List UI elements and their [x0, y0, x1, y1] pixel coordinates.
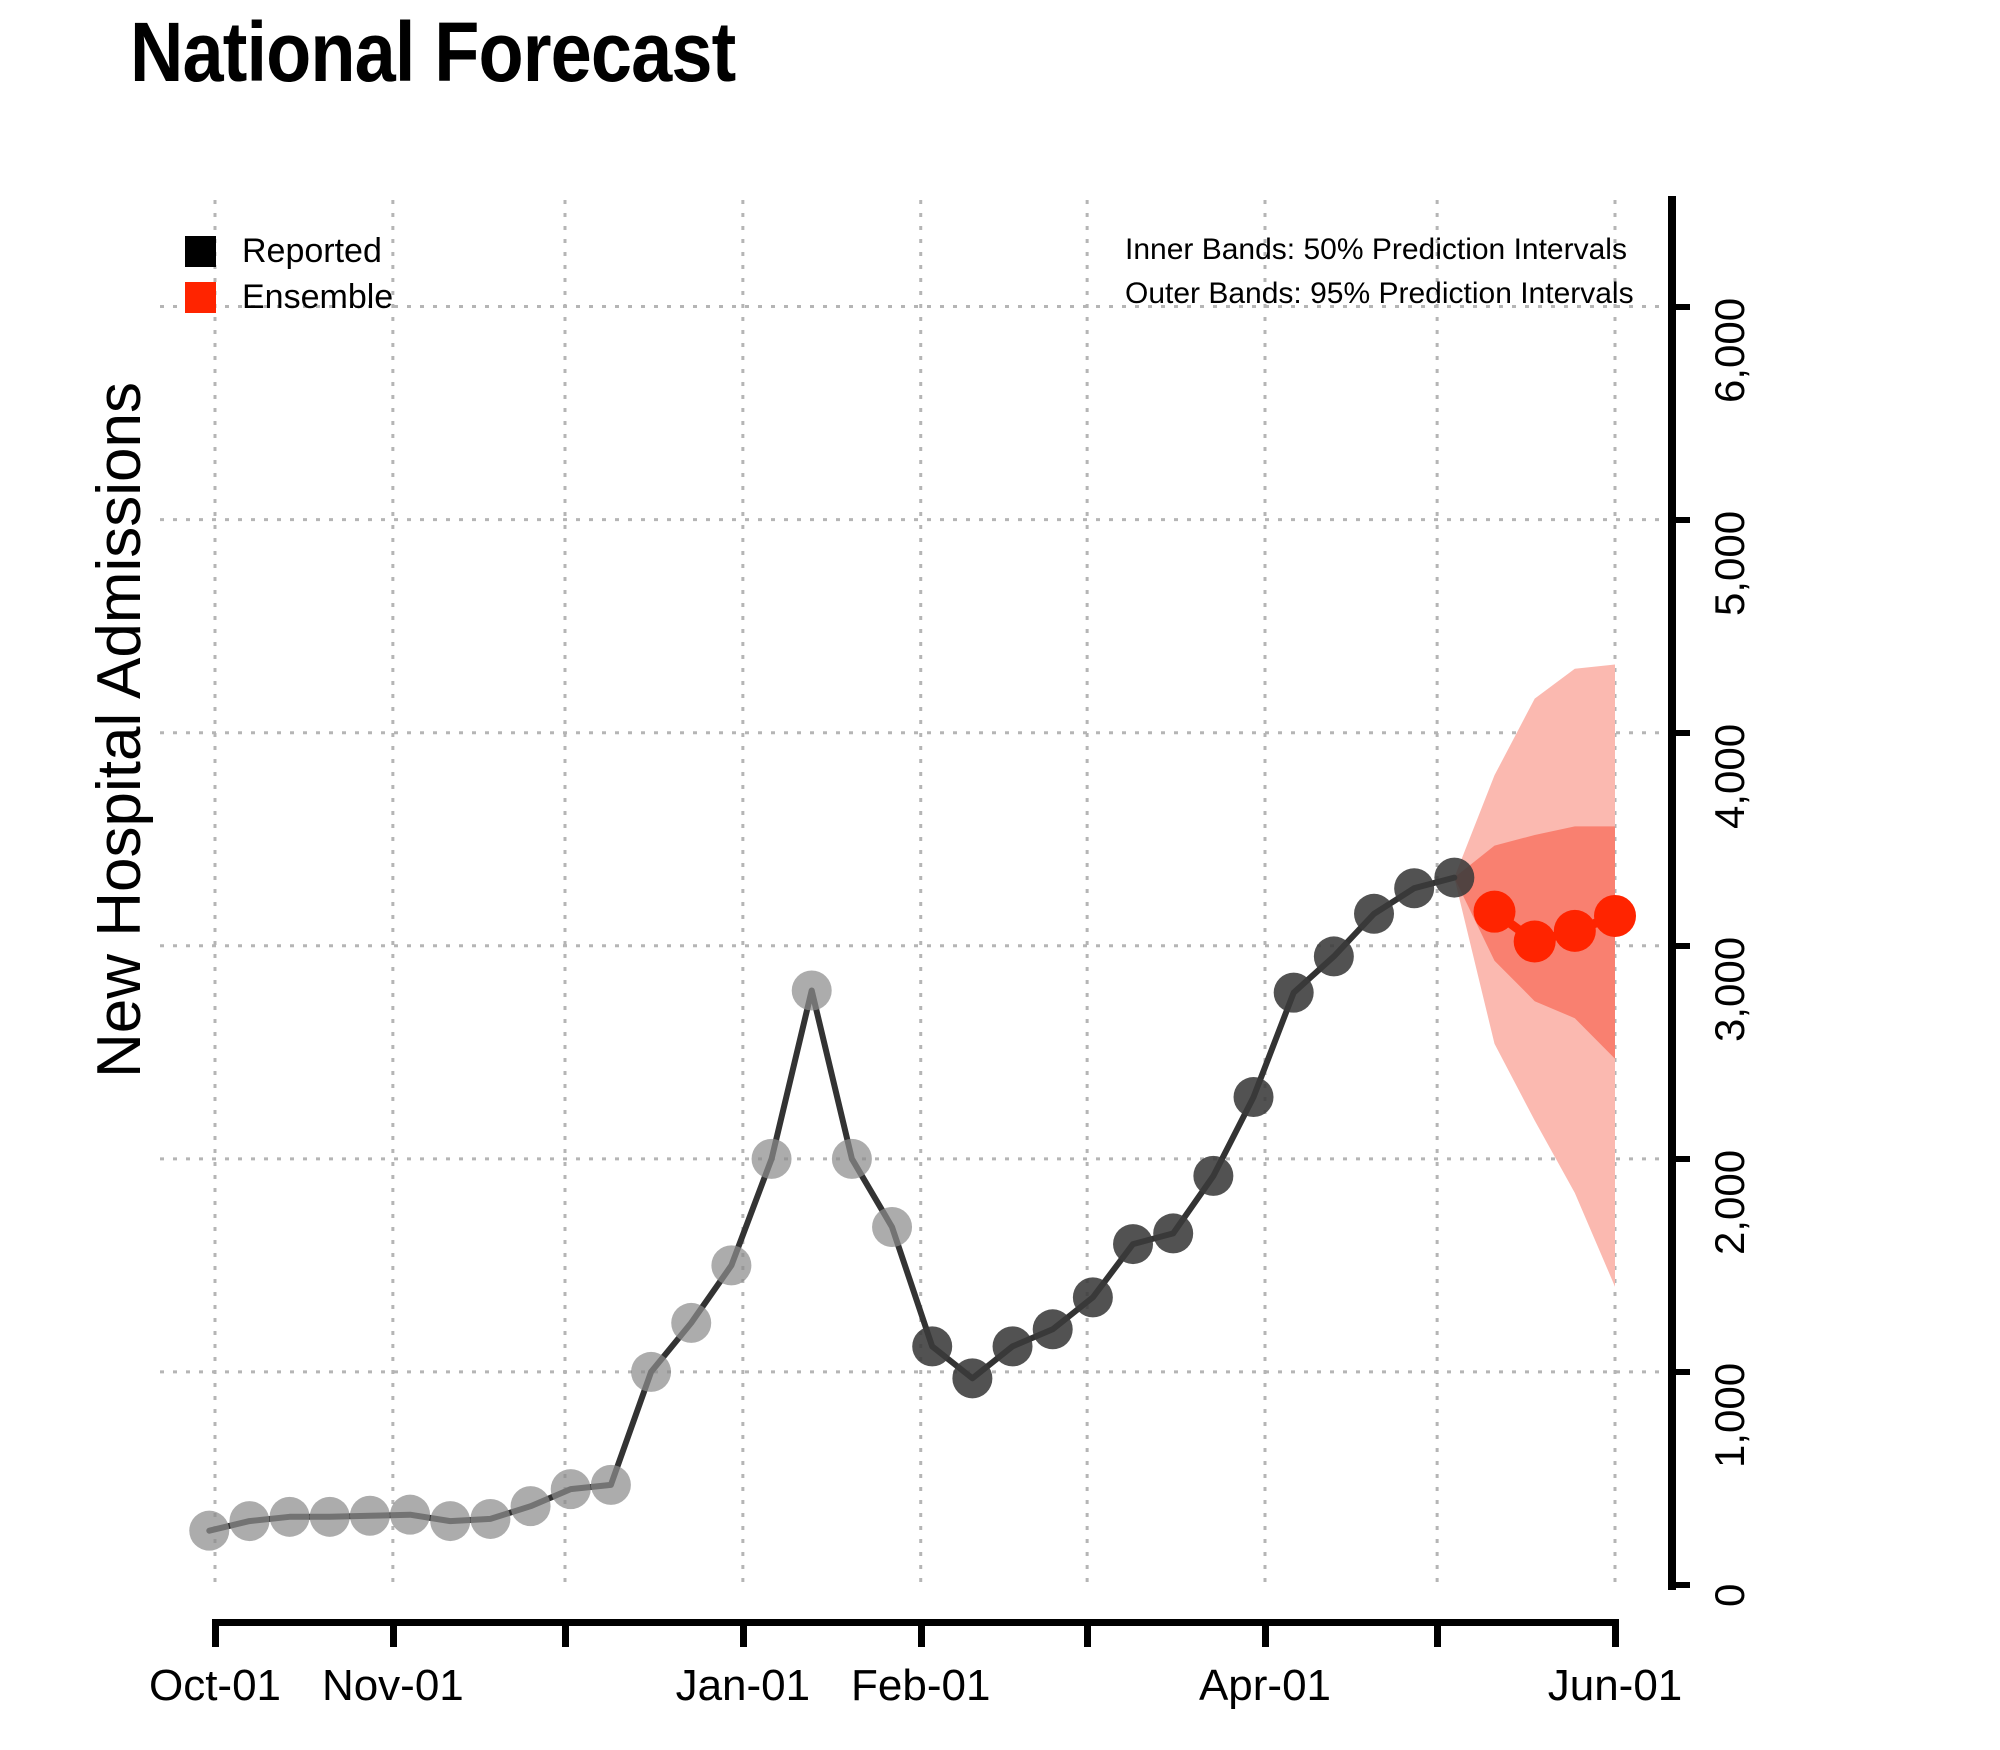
reported-line	[209, 878, 1454, 1531]
page-title: National Forecast	[130, 4, 735, 101]
y-axis-tick-label: 5,000	[1706, 511, 1754, 616]
y-axis-tick	[1668, 730, 1690, 736]
x-axis-tick	[212, 1619, 219, 1647]
y-axis-tick	[1668, 943, 1690, 949]
y-axis-tick	[1668, 1582, 1690, 1588]
plot-area	[160, 200, 1670, 1585]
y-axis-tick-label: 3,000	[1706, 937, 1754, 1042]
y-axis-tick	[1668, 517, 1690, 523]
y-axis-line	[1668, 196, 1676, 1590]
prediction-band-note: Inner Bands: 50% Prediction Intervals Ou…	[1125, 228, 1634, 316]
x-axis-tick-label: Jan-01	[676, 1661, 811, 1711]
y-axis-tick	[1668, 1156, 1690, 1162]
x-axis-tick	[562, 1619, 569, 1647]
chart-root: National Forecast New Hospital Admission…	[0, 0, 2000, 1750]
x-axis-tick	[390, 1619, 397, 1647]
legend-swatch-reported	[185, 236, 216, 267]
x-axis-tick	[740, 1619, 747, 1647]
x-axis-tick	[1612, 1619, 1619, 1647]
x-axis-tick-label: Feb-01	[851, 1661, 990, 1711]
legend-item-ensemble: Ensemble	[185, 274, 393, 320]
y-axis-title: New Hospital Admissions	[88, 70, 152, 1390]
x-axis-tick-label: Oct-01	[149, 1661, 281, 1711]
x-axis-tick-label: Nov-01	[322, 1661, 464, 1711]
y-axis-tick-label: 0	[1706, 1584, 1754, 1607]
x-axis-tick	[1084, 1619, 1091, 1647]
x-axis-tick-label: Apr-01	[1199, 1661, 1331, 1711]
chart-canvas	[160, 200, 1670, 1585]
inner-band-note: Inner Bands: 50% Prediction Intervals	[1125, 228, 1634, 272]
y-axis-tick-label: 1,000	[1706, 1363, 1754, 1468]
x-axis-tick	[918, 1619, 925, 1647]
legend: Reported Ensemble	[185, 228, 393, 320]
x-axis-line	[215, 1619, 1615, 1626]
legend-swatch-ensemble	[185, 282, 216, 313]
outer-band-note: Outer Bands: 95% Prediction Intervals	[1125, 272, 1634, 316]
y-axis-tick	[1668, 1369, 1690, 1375]
legend-item-reported: Reported	[185, 228, 393, 274]
legend-label-reported: Reported	[242, 232, 382, 271]
x-axis-tick	[1434, 1619, 1441, 1647]
y-axis-tick-label: 4,000	[1706, 724, 1754, 829]
legend-label-ensemble: Ensemble	[242, 278, 393, 317]
y-axis-tick-label: 6,000	[1706, 297, 1754, 402]
y-axis-tick-label: 2,000	[1706, 1150, 1754, 1255]
x-axis-tick-label: Jun-01	[1548, 1661, 1683, 1711]
y-axis-tick	[1668, 304, 1690, 310]
x-axis-tick	[1262, 1619, 1269, 1647]
reported-points	[189, 858, 1474, 1551]
